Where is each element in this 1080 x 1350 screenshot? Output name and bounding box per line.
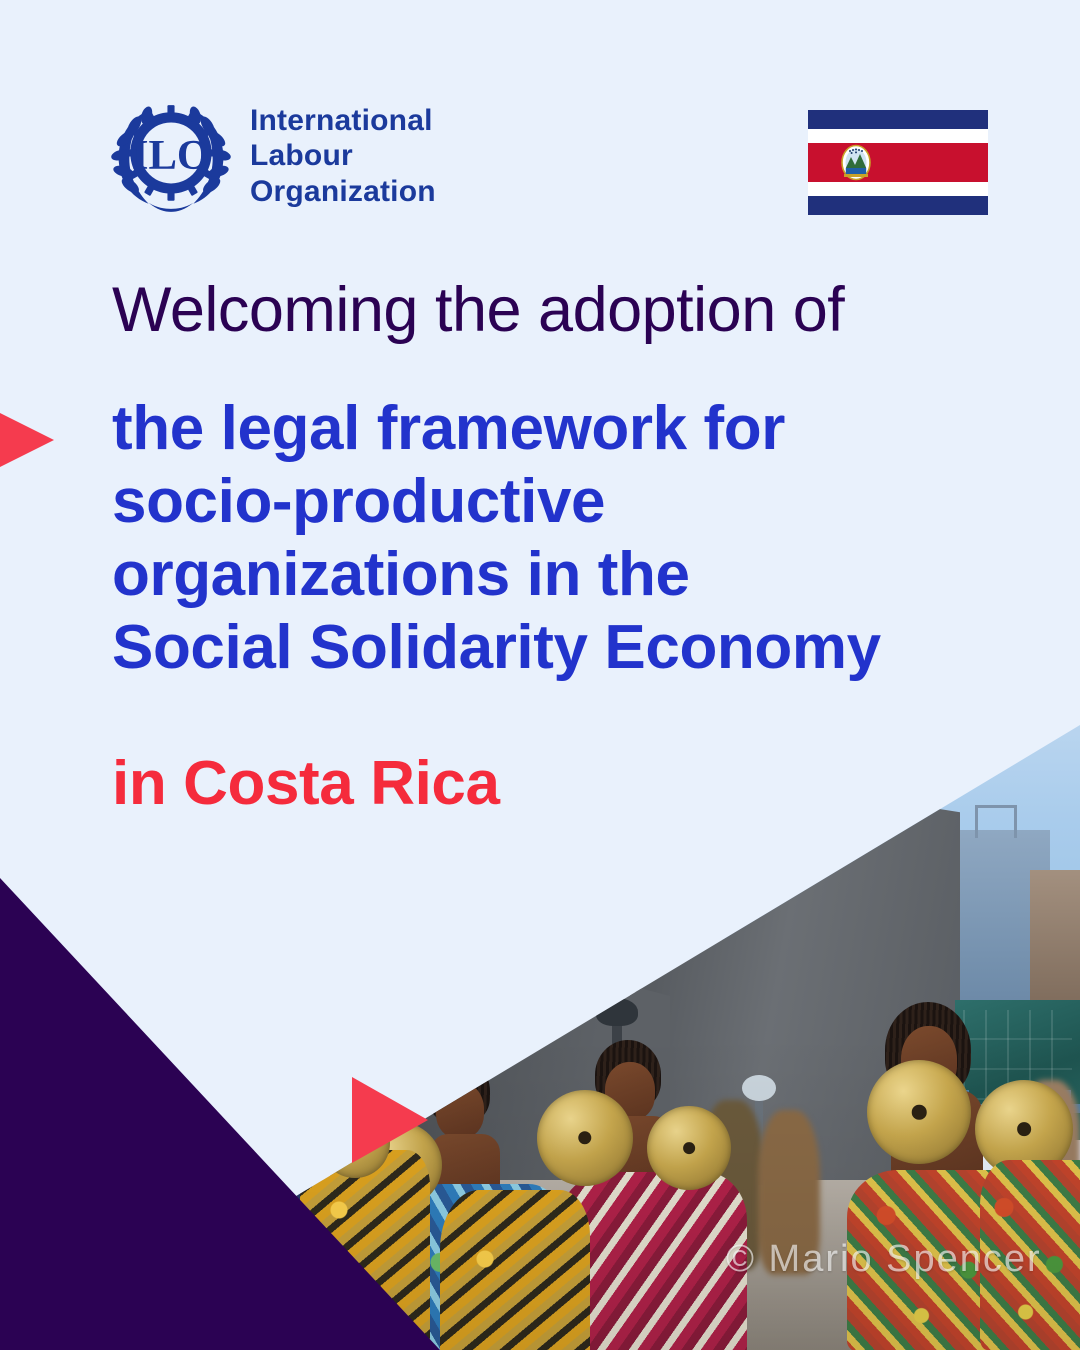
ilo-wordmark: International Labour Organization	[250, 103, 436, 209]
ilo-wordmark-line-1: International	[250, 103, 436, 138]
country-text: in Costa Rica	[112, 748, 500, 819]
cymbal	[867, 1060, 971, 1164]
kicker-text: Welcoming the adoption of	[112, 274, 844, 346]
headline-line-4: Social Solidarity Economy	[112, 611, 1012, 684]
rooftop-antenna	[975, 805, 1017, 838]
red-arrow-icon	[0, 404, 54, 476]
ilo-wordmark-line-2: Labour	[250, 138, 436, 173]
background-building-far-2	[1030, 870, 1080, 1010]
ilo-emblem-icon: ILO	[110, 98, 232, 214]
costa-rica-flag-icon	[808, 110, 988, 215]
cymbal	[537, 1090, 633, 1186]
headline: the legal framework for socio-productive…	[112, 392, 1012, 685]
headline-line-1: the legal framework for	[112, 392, 1012, 465]
ilo-logo: ILO International Labour Organization	[110, 98, 436, 214]
cymbal	[647, 1106, 731, 1190]
costa-rica-coat-of-arms-icon	[842, 146, 870, 180]
headline-line-2: socio-productive	[112, 465, 1012, 538]
headline-line-3: organizations in the	[112, 538, 1012, 611]
photo-credit-watermark: © Mario Spencer	[726, 1238, 1042, 1281]
svg-text:ILO: ILO	[132, 132, 210, 179]
poster-canvas: © Mario Spencer	[0, 0, 1080, 1350]
ilo-wordmark-line-3: Organization	[250, 174, 436, 209]
